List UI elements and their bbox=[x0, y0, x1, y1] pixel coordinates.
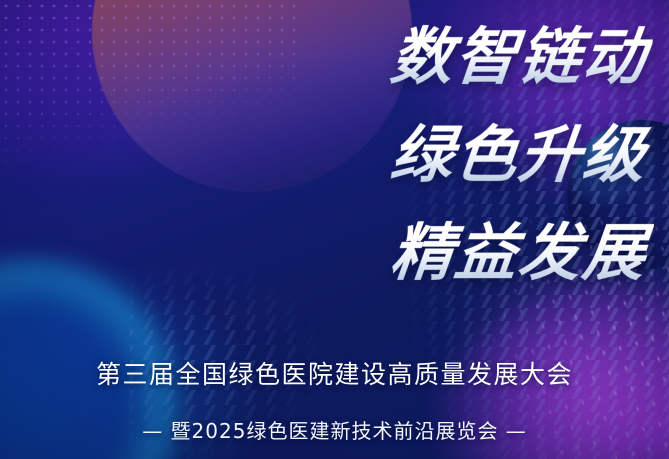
headline-line-1: 数智链动 bbox=[0, 6, 656, 108]
headline-line-2: 绿色升级 bbox=[0, 104, 656, 206]
headline-block: 数智链动 绿色升级 精益发展 bbox=[0, 6, 651, 304]
conference-poster: 数智链动 绿色升级 精益发展 第三届全国绿色医院建设高质量发展大会 — 暨202… bbox=[0, 0, 669, 459]
conference-title: 第三届全国绿色医院建设高质量发展大会 bbox=[0, 355, 669, 391]
headline-line-3: 精益发展 bbox=[0, 202, 656, 304]
exhibition-subtitle: — 暨2025绿色医建新技术前沿展览会 — bbox=[0, 415, 669, 444]
